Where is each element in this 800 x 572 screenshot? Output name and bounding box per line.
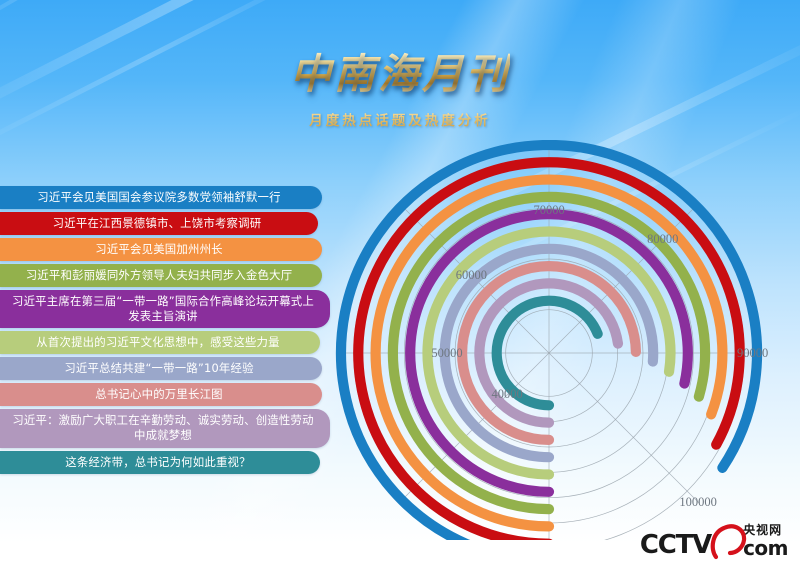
topic-label-text: 这条经济带，总书记为何如此重视？	[65, 455, 250, 470]
page-subtitle: 月度热点话题及热度分析	[0, 109, 800, 129]
topic-label-pill[interactable]: 习近平会见美国加州州长	[0, 238, 322, 261]
topic-label-text: 从首次提出的习近平文化思想中，感受这些力量	[36, 335, 279, 350]
topic-label-pill[interactable]: 习近平主席在第三届“一带一路”国际合作高峰论坛开幕式上发表主旨演讲	[0, 290, 330, 328]
page-title: 中南海月刊	[290, 52, 510, 97]
radial-tick-label: 80000	[647, 232, 678, 247]
topic-label-list: 习近平会见美国国会参议院多数党领袖舒默一行习近平在江西景德镇市、上饶市考察调研习…	[0, 186, 330, 477]
radial-tick-label: 90000	[737, 346, 768, 361]
topic-label-text: 总书记心中的万里长江图	[95, 387, 223, 402]
background-light-streak	[0, 0, 192, 49]
topic-label-pill[interactable]: 从首次提出的习近平文化思想中，感受这些力量	[0, 331, 320, 354]
radial-tick-label: 40000	[492, 387, 523, 402]
topic-label-text: 习近平在江西景德镇市、上饶市考察调研	[53, 216, 262, 231]
cctv-wordmark: CCTV	[640, 532, 711, 558]
topic-label-pill[interactable]: 总书记心中的万里长江图	[0, 383, 322, 406]
poster-canvas: 中南海月刊 月度热点话题及热度分析 习近平会见美国国会参议院多数党领袖舒默一行习…	[0, 0, 800, 572]
cctv-logo[interactable]: CCTV 央视网 com	[640, 524, 788, 558]
topic-label-text: 习近平主席在第三届“一带一路”国际合作高峰论坛开幕式上发表主旨演讲	[10, 294, 316, 324]
poster-header: 中南海月刊 月度热点话题及热度分析	[0, 52, 800, 129]
cctv-logo-text: 央视网 com	[743, 524, 788, 558]
topic-label-text: 习近平会见美国国会参议院多数党领袖舒默一行	[37, 190, 280, 205]
radial-tick-label: 60000	[456, 268, 487, 283]
topic-label-pill[interactable]: 习近平在江西景德镇市、上饶市考察调研	[0, 212, 318, 235]
topic-label-text: 习近平总结共建“一带一路”10年经验	[64, 361, 253, 376]
topic-label-pill[interactable]: 习近平会见美国国会参议院多数党领袖舒默一行	[0, 186, 322, 209]
topic-label-text: 习近平和彭丽媛同外方领导人夫妇共同步入金色大厅	[26, 268, 293, 283]
topic-label-pill[interactable]: 习近平和彭丽媛同外方领导人夫妇共同步入金色大厅	[0, 264, 322, 287]
radial-tick-label: 100000	[679, 495, 717, 510]
topic-label-pill[interactable]: 这条经济带，总书记为何如此重视？	[0, 451, 320, 474]
radial-chart-svg	[330, 140, 800, 540]
topic-label-text: 习近平：激励广大职工在辛勤劳动、诚实劳动、创造性劳动中成就梦想	[10, 413, 316, 443]
cctv-domain-label: com	[743, 538, 788, 558]
cctv-cn-label: 央视网	[743, 524, 782, 536]
cctv-swoosh-icon	[714, 528, 740, 558]
topic-label-text: 习近平会见美国加州州长	[95, 242, 223, 257]
topic-label-pill[interactable]: 习近平总结共建“一带一路”10年经验	[0, 357, 322, 380]
radial-tick-label: 50000	[431, 346, 462, 361]
topic-label-pill[interactable]: 习近平：激励广大职工在辛勤劳动、诚实劳动、创造性劳动中成就梦想	[0, 409, 330, 447]
radial-grid-spoke	[549, 353, 699, 503]
radial-bar-chart: 400005000060000700008000090000100000	[330, 140, 800, 540]
radial-tick-label: 70000	[534, 203, 565, 218]
